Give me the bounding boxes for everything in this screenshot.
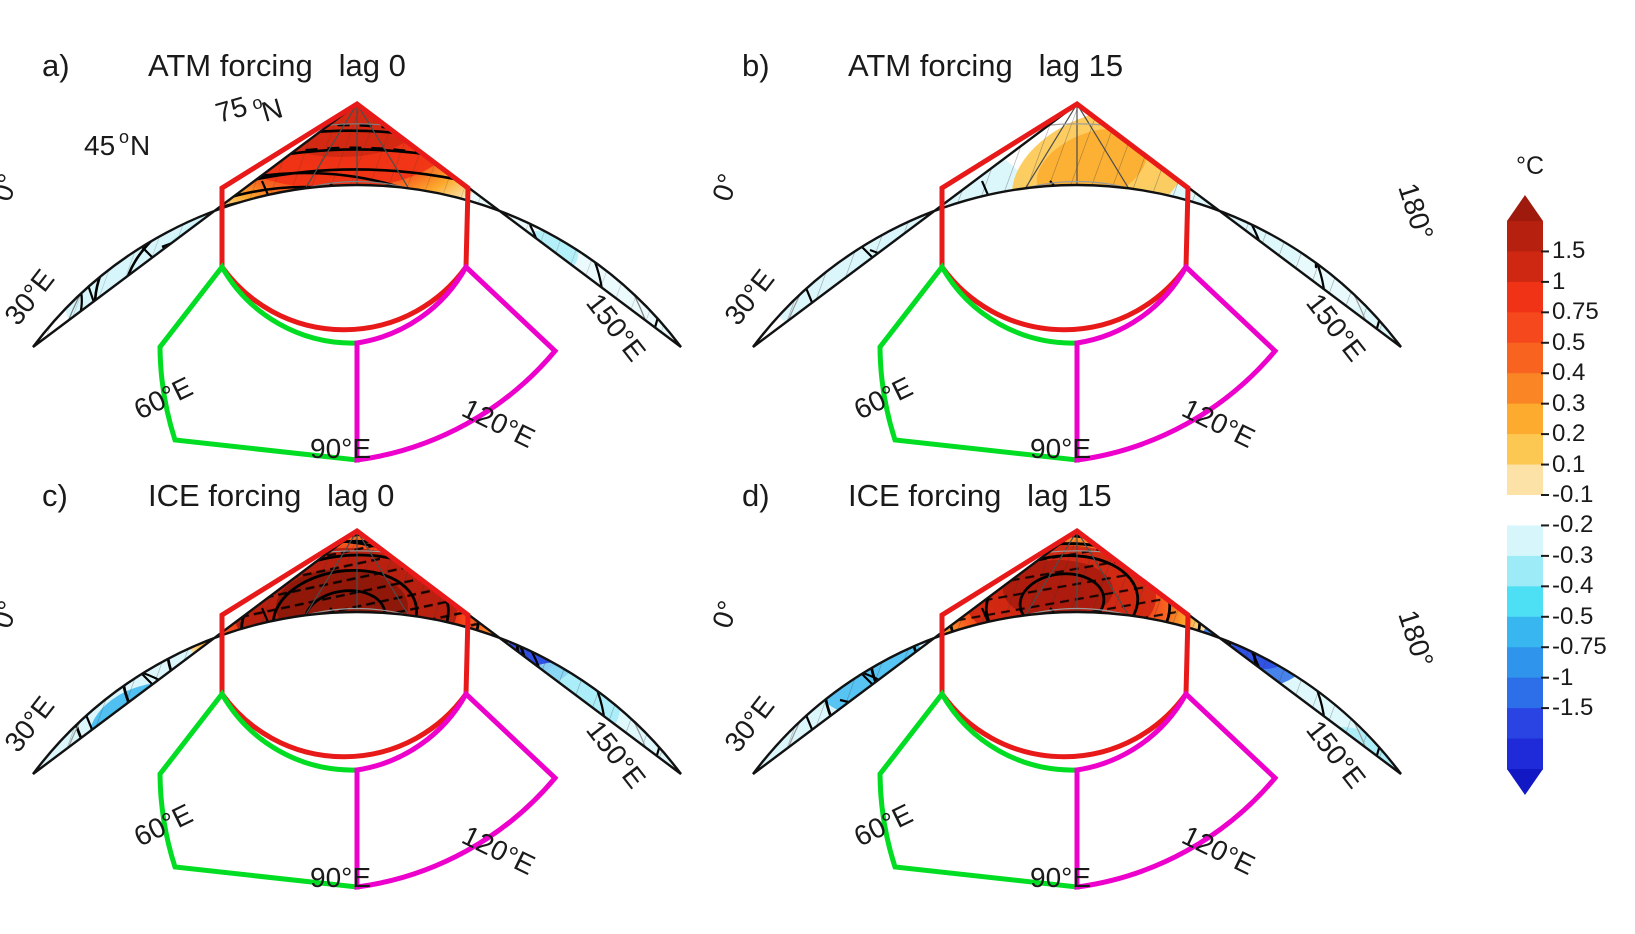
panel-b: b) ATM forcing lag 15: [720, 0, 1440, 460]
panel-d: d) ICE forcing lag 15: [720, 460, 1440, 934]
colorbar-tick-label: -1: [1552, 666, 1573, 690]
colorbar-band: [1507, 708, 1543, 739]
colorbar-tick-label: 0.4: [1552, 361, 1585, 385]
lon-label-0: 0°: [0, 597, 24, 632]
panel-d-letter: d): [742, 478, 770, 514]
colorbar-band: [1507, 221, 1543, 252]
colorbar-extend-bottom: [1507, 769, 1543, 795]
colorbar-swatches: [1507, 195, 1543, 795]
colorbar-band: [1507, 251, 1543, 282]
colorbar-tick-label: -0.2: [1552, 513, 1593, 537]
panel-a: a) ATM forcing lag 0: [0, 0, 720, 460]
panel-c-title: ICE forcing lag 0: [148, 478, 394, 514]
lon-label-0: 0°: [0, 170, 24, 205]
colorbar-tick-label: -0.1: [1552, 483, 1593, 507]
lon-label-30e: 30°E: [718, 691, 780, 758]
panel-d-title: ICE forcing lag 15: [848, 478, 1112, 514]
panel-a-letter: a): [42, 48, 70, 84]
lat-label-45n-n: N: [130, 130, 150, 161]
panel-c: c) ICE forcing lag 0: [0, 460, 720, 934]
colorbar-tick-label: 1.5: [1552, 239, 1585, 263]
panel-b-letter: b): [742, 48, 770, 84]
colorbar-tick-label: -0.75: [1552, 635, 1607, 659]
colorbar-band: [1507, 556, 1543, 587]
colorbar-tick-label: 0.3: [1552, 392, 1585, 416]
panel-d-map: 0° 30°E 60°E 90°E 120°E 150°E 180°: [720, 522, 1440, 892]
lat-label-75n-n: N: [258, 92, 286, 127]
colorbar-band: [1507, 404, 1543, 435]
colorbar-tick-label: 0.1: [1552, 453, 1585, 477]
colorbar-tick-label: -1.5: [1552, 696, 1593, 720]
figure-root: a) ATM forcing lag 0: [0, 0, 1635, 934]
green-region: [880, 267, 1077, 460]
colorbar-band: [1507, 586, 1543, 617]
colorbar-tick-label: 0.5: [1552, 331, 1585, 355]
colorbar-tick-label: 1: [1552, 270, 1565, 294]
colorbar-band: [1507, 678, 1543, 709]
colorbar-band: [1507, 282, 1543, 313]
colorbar-band: [1507, 647, 1543, 678]
colorbar-band: [1507, 343, 1543, 374]
panel-a-title: ATM forcing lag 0: [148, 48, 406, 84]
colorbar-tick-label: -0.4: [1552, 574, 1593, 598]
colorbar-band: [1507, 434, 1543, 465]
colorbar-band: [1507, 617, 1543, 648]
colorbar-tick-label: -0.5: [1552, 605, 1593, 629]
panel-c-letter: c): [42, 478, 68, 514]
colorbar-unit-label: °C: [1500, 152, 1560, 181]
lat-label-45n: 45: [84, 130, 115, 161]
colorbar-band: [1507, 739, 1543, 770]
panel-b-map: 0° 30°E 60°E 90°E 120°E 150°E 180°: [720, 95, 1440, 460]
colorbar-band: [1507, 495, 1543, 526]
colorbar-band: [1507, 525, 1543, 556]
lat-label-75n: 75: [212, 90, 250, 128]
lon-label-30e: 30°E: [718, 264, 780, 331]
green-region: [160, 267, 357, 460]
lon-label-90e: 90°E: [310, 862, 371, 893]
lon-label-30e: 30°E: [0, 691, 60, 758]
lon-label-180: 180°: [1392, 179, 1439, 244]
lon-label-180: 180°: [1392, 606, 1439, 671]
panel-b-title: ATM forcing lag 15: [848, 48, 1123, 84]
lat-label-45n-sup: o: [119, 127, 129, 147]
temperature-colorbar[interactable]: [1505, 195, 1545, 795]
colorbar-tick-label: 0.75: [1552, 300, 1599, 324]
panel-a-map: 45 o N 75 o N 0° 30°E 60°E 90°E 120°E 15…: [0, 95, 720, 460]
panel-c-map: 0° 30°E 60°E 90°E 120°E 150°E: [0, 522, 720, 892]
colorbar-band: [1507, 373, 1543, 404]
colorbar-extend-top: [1507, 195, 1543, 221]
colorbar-tick-label: -0.3: [1552, 544, 1593, 568]
green-region: [880, 694, 1077, 887]
green-region: [160, 694, 357, 887]
colorbar-band: [1507, 465, 1543, 496]
lon-label-30e: 30°E: [0, 264, 60, 331]
lon-label-90e: 90°E: [1030, 862, 1091, 893]
colorbar-tick-label: 0.2: [1552, 422, 1585, 446]
colorbar-band: [1507, 312, 1543, 343]
